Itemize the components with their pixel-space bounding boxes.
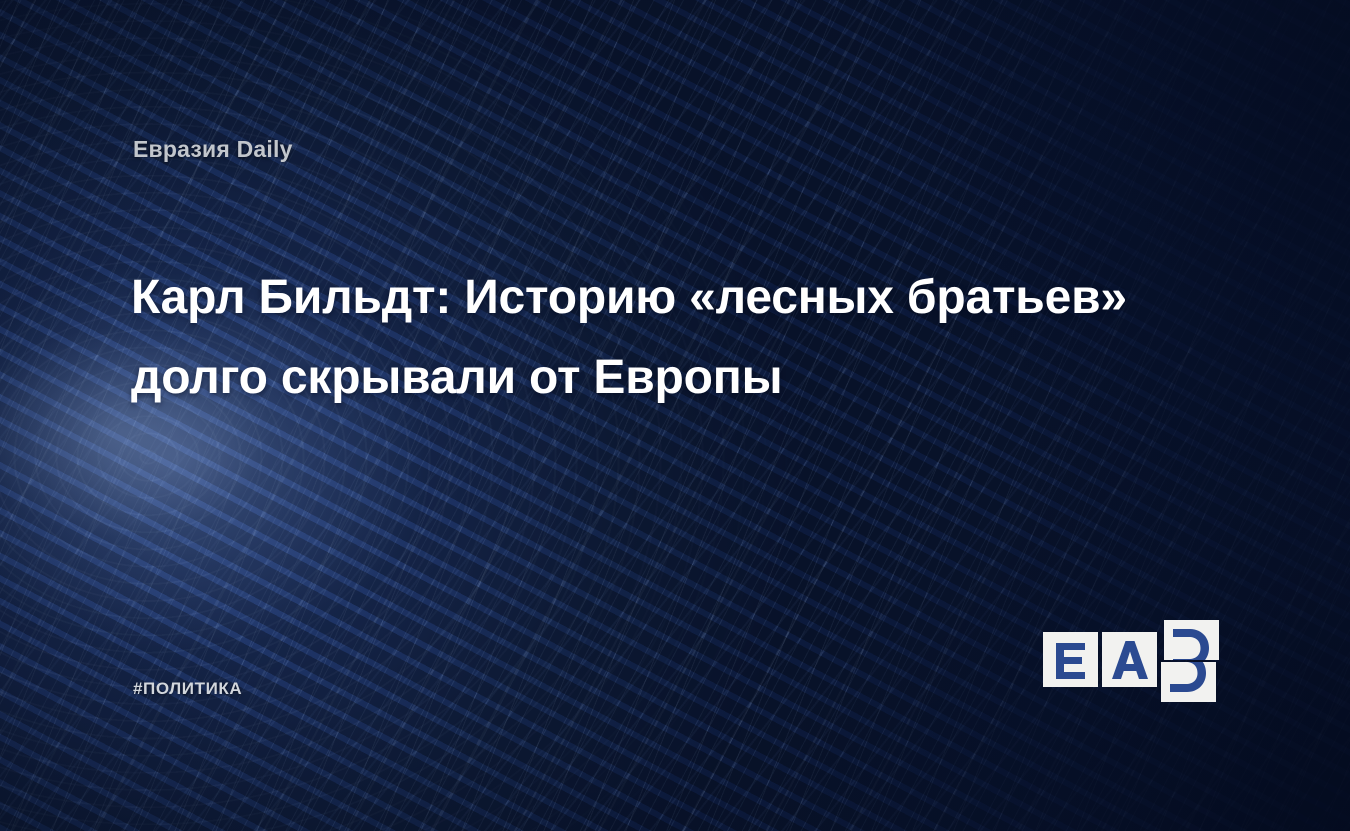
news-card: Евразия Daily Карл Бильдт: Историю «лесн… bbox=[0, 0, 1350, 831]
category-tag[interactable]: #ПОЛИТИКА bbox=[133, 679, 242, 699]
logo-letter-a-tile bbox=[1102, 632, 1157, 687]
logo-letter-d-tile bbox=[1161, 620, 1219, 702]
logo-d-top-half bbox=[1164, 620, 1219, 660]
site-name[interactable]: Евразия Daily bbox=[133, 136, 293, 163]
logo-d-bottom-half bbox=[1161, 662, 1216, 702]
logo-letter-e-tile bbox=[1043, 632, 1098, 687]
ead-logo[interactable] bbox=[1043, 632, 1219, 702]
headline[interactable]: Карл Бильдт: Историю «лесных братьев» до… bbox=[131, 258, 1191, 418]
